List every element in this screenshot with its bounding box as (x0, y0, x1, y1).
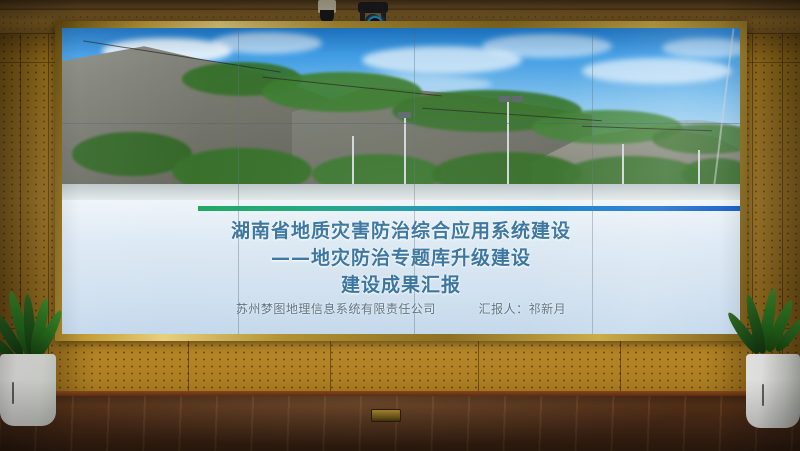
wood-floor (0, 396, 800, 451)
videowall-bezel-seam-vertical (414, 28, 415, 334)
slide-text-area: 湖南省地质灾害防治综合应用系统建设 ——地灾防治专题库升级建设 建设成果汇报 苏… (62, 200, 740, 334)
slide-presenter: 汇报人：祁新月 (479, 302, 567, 316)
plant-pot-left (0, 354, 56, 426)
pot-marking (762, 384, 764, 406)
slide-title-line-2: ——地灾防治专题库升级建设 (62, 243, 740, 270)
video-wall-display[interactable]: 湖南省地质灾害防治综合应用系统建设 ——地灾防治专题库升级建设 建设成果汇报 苏… (62, 28, 740, 334)
floor-power-outlet (371, 409, 401, 422)
videowall-bezel-seam-vertical (592, 28, 593, 334)
videowall-bezel-seam-horizontal (62, 123, 740, 124)
plant-pot-right (746, 354, 800, 428)
pot-marking (12, 382, 14, 404)
plant-left (0, 290, 68, 426)
slide-subtitle: 苏州梦图地理信息系统有限责任公司 汇报人：祁新月 (62, 300, 740, 317)
slide-photo (62, 28, 740, 200)
plant-right (734, 288, 800, 428)
floor-reflection (0, 396, 800, 451)
photo-road (62, 184, 740, 200)
slide-company-name: 苏州梦图地理信息系统有限责任公司 (236, 302, 436, 316)
slide-accent-bar (198, 206, 740, 211)
slide-title-line-1: 湖南省地质灾害防治综合应用系统建设 (62, 216, 740, 243)
slide-title-line-3: 建设成果汇报 (62, 270, 740, 297)
videowall-bezel-seam-vertical (238, 28, 239, 334)
conference-room-scene: 湖南省地质灾害防治综合应用系统建设 ——地灾防治专题库升级建设 建设成果汇报 苏… (0, 0, 800, 451)
